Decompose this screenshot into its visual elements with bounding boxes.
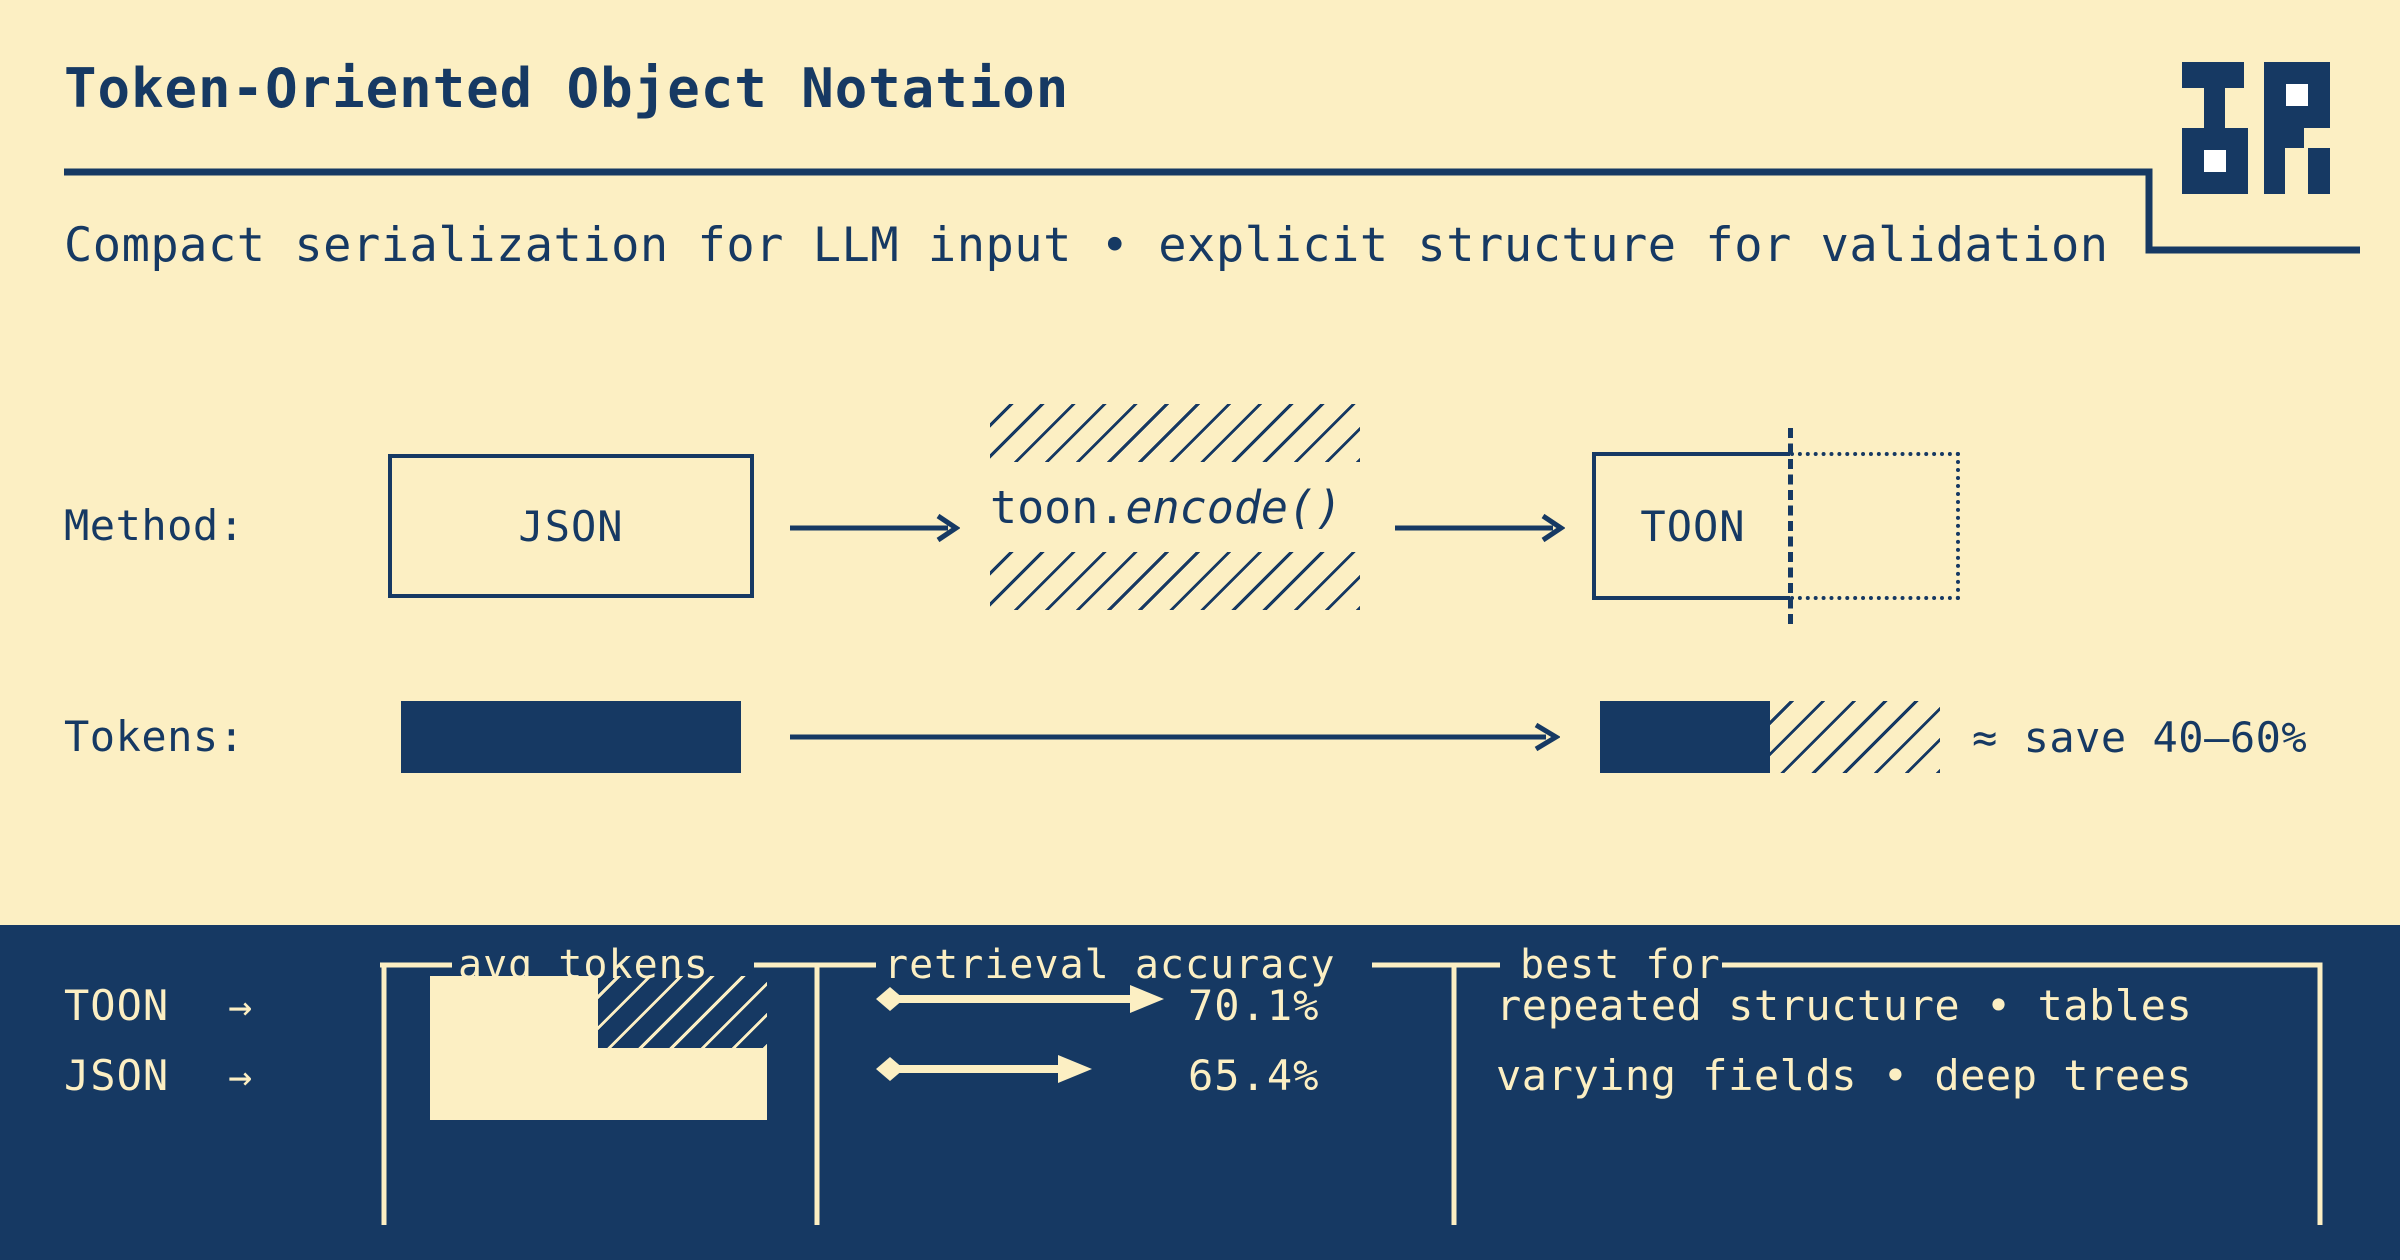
method-row-label: Method: bbox=[64, 505, 245, 547]
tokens-bar-json bbox=[401, 701, 741, 773]
retrieval-accuracy-arrow-json bbox=[876, 1049, 1092, 1089]
toon-format-box-dotted-half bbox=[1790, 452, 1960, 600]
toon-format-label: TOON bbox=[1640, 502, 1745, 551]
hatch-block-top bbox=[990, 404, 1360, 462]
panel-row-arrow-toon-icon: → bbox=[228, 987, 252, 1027]
json-format-label: JSON bbox=[518, 502, 623, 551]
encode-call-text: toon.encode() bbox=[990, 466, 1360, 548]
retrieval-accuracy-arrow-toon bbox=[876, 979, 1164, 1019]
tokens-bar-toon-saved bbox=[1770, 701, 1940, 773]
tokens-row-label: Tokens: bbox=[64, 716, 245, 758]
toon-format-box: TOON bbox=[1592, 452, 1960, 600]
logo-letter-o-bottom bbox=[2182, 128, 2248, 194]
toon-format-box-solid-half: TOON bbox=[1592, 452, 1790, 600]
encode-call-prefix: toon. bbox=[990, 481, 1125, 534]
panel-row-label-json: JSON bbox=[64, 1055, 169, 1097]
best-for-line-toon: repeated structure • tables bbox=[1496, 985, 2192, 1027]
avg-tokens-bar-toon-used bbox=[430, 976, 598, 1048]
page-title: Token-Oriented Object Notation bbox=[64, 62, 1069, 116]
logo-letter-t bbox=[2182, 62, 2244, 128]
logo-letter-o-top bbox=[2264, 62, 2330, 128]
savings-note: ≈ save 40–60% bbox=[1972, 717, 2307, 759]
panel-row-arrow-json-icon: → bbox=[228, 1057, 252, 1097]
retrieval-accuracy-value-toon: 70.1% bbox=[1188, 985, 1319, 1027]
tokens-bar-toon-used bbox=[1600, 701, 1770, 773]
arrow-tokens-comparison bbox=[790, 717, 1560, 757]
best-for-title: best for bbox=[1520, 945, 1721, 985]
comparison-panel: TOON → JSON → avg tokens retrieval accur… bbox=[0, 925, 2400, 1260]
json-format-box: JSON bbox=[388, 454, 754, 598]
panel-row-label-toon: TOON bbox=[64, 985, 169, 1027]
retrieval-accuracy-value-json: 65.4% bbox=[1188, 1055, 1319, 1097]
page-subtitle: Compact serialization for LLM input • ex… bbox=[64, 222, 2109, 269]
encode-step-group: toon.encode() bbox=[990, 404, 1360, 610]
toon-logo bbox=[2182, 62, 2330, 194]
infographic-root: Token-Oriented Object Notation Compact s… bbox=[0, 0, 2400, 1260]
tokens-bar-toon bbox=[1600, 701, 1940, 773]
arrow-json-to-encode bbox=[790, 508, 960, 548]
hatch-block-bottom bbox=[990, 552, 1360, 610]
arrow-encode-to-toon bbox=[1395, 508, 1565, 548]
avg-tokens-bar-toon-saved bbox=[598, 976, 767, 1048]
best-for-line-json: varying fields • deep trees bbox=[1496, 1055, 2192, 1097]
encode-call-method: encode() bbox=[1125, 481, 1342, 534]
avg-tokens-bar-toon bbox=[430, 976, 767, 1048]
logo-letter-n bbox=[2264, 128, 2330, 194]
avg-tokens-bar-json bbox=[430, 1048, 767, 1120]
toon-box-dashed-divider bbox=[1788, 428, 1793, 624]
